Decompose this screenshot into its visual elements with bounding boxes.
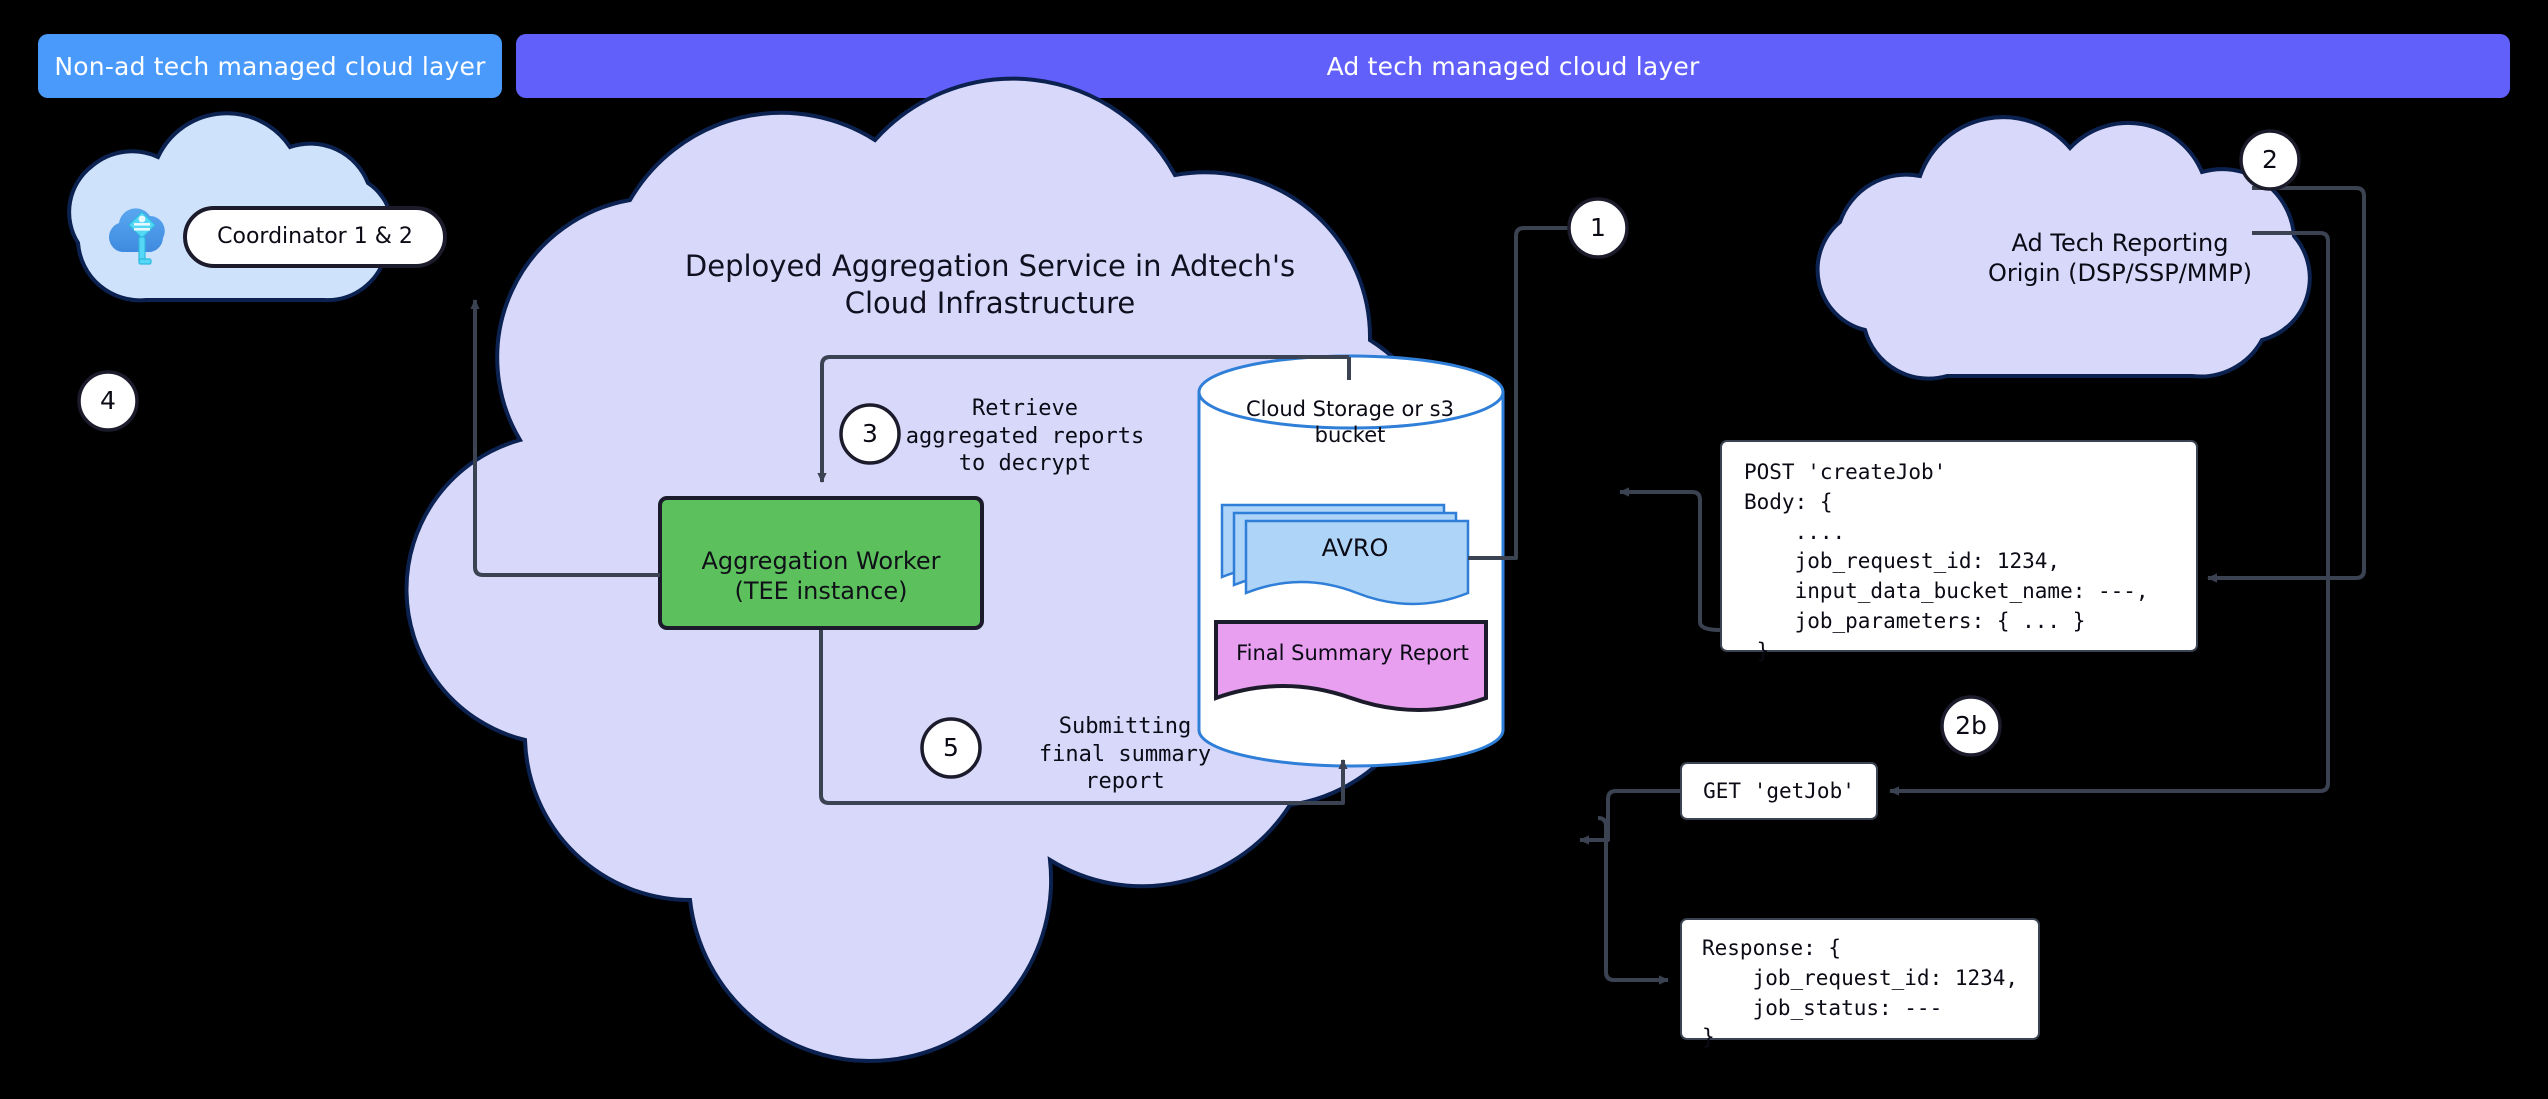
ad-tech-origin-cloud-shape bbox=[1818, 117, 2310, 378]
edge-post-createjob-to-cloud bbox=[1620, 492, 1720, 630]
get-getjob-code-box: GET 'getJob' bbox=[1680, 762, 1878, 820]
step-badge-3-shape bbox=[841, 405, 899, 463]
step-badge-2b-shape bbox=[1942, 697, 2000, 755]
cloud-key-icon bbox=[104, 196, 180, 272]
step-badge-5-shape bbox=[922, 719, 980, 777]
aggregation-worker-shape bbox=[660, 498, 982, 628]
response-code-box: Response: { job_request_id: 1234, job_st… bbox=[1680, 918, 2040, 1040]
avro-documents-shape bbox=[1222, 505, 1468, 604]
step-badge-2-shape bbox=[2241, 131, 2299, 189]
edge-getjob-to-cloud bbox=[1580, 791, 1680, 840]
post-createjob-code-box: POST 'createJob' Body: { .... job_reques… bbox=[1720, 440, 2198, 652]
coordinator-node-shape bbox=[185, 208, 445, 266]
step-badge-1-shape bbox=[1569, 199, 1627, 257]
step-badge-4-shape bbox=[79, 372, 137, 430]
diagram-canvas: Non-ad tech managed cloud layer Ad tech … bbox=[0, 0, 2548, 1099]
edge-cloud-to-response bbox=[1598, 818, 1668, 980]
